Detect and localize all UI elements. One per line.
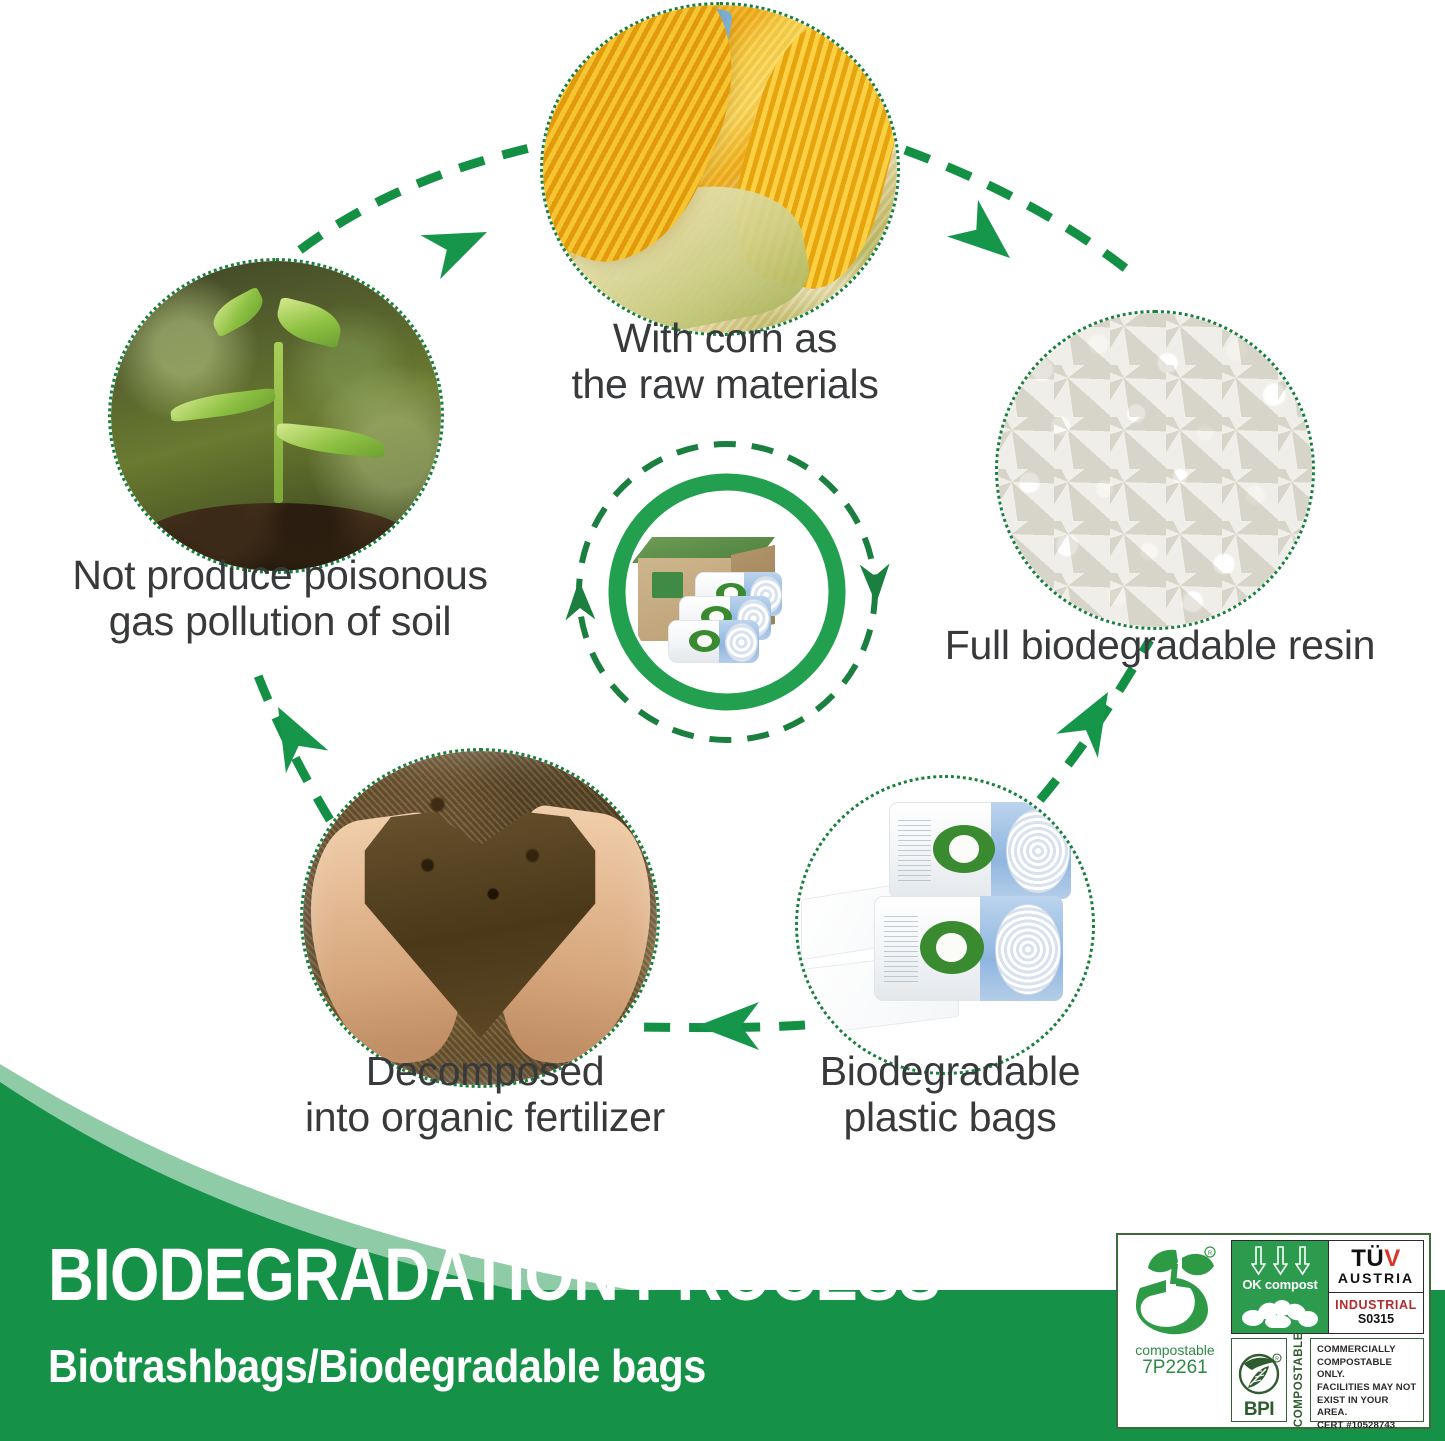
tuv-bottom: INDUSTRIAL S0315: [1329, 1292, 1423, 1333]
leaf-mid-left: [169, 388, 276, 422]
down-arrow-icon: [1295, 1246, 1310, 1276]
bpi-compostable-text: COMPOSTABLE: [1293, 1332, 1305, 1427]
resin-image: [995, 310, 1315, 630]
bpi-leaf-icon: R: [1236, 1352, 1282, 1400]
cert-right-column: OK compost TÜV AUSTRIA: [1231, 1240, 1424, 1422]
arrowhead-to-resin-top: [947, 200, 1025, 277]
corn-image: [540, 2, 900, 336]
arrowhead-to-soil: [697, 1002, 759, 1050]
plant-image: [108, 258, 444, 574]
seedling-label: compostable: [1135, 1342, 1214, 1358]
resin-caption: Full biodegradable resin: [900, 622, 1420, 668]
soil-image: [300, 748, 660, 1088]
compost-flower-icon: [1240, 1294, 1320, 1328]
ok-compost-label: OK compost: [1242, 1277, 1317, 1292]
bpi-disclaimer: COMMERCIALLY COMPOSTABLE ONLY. FACILITIE…: [1310, 1338, 1424, 1422]
bpi-row: R BPI COMPOSTABLE COMMERCIALLY COMPOSTAB…: [1231, 1338, 1424, 1422]
hands-holding-soil-art: [303, 751, 657, 1085]
bpi-compostable-vertical: COMPOSTABLE: [1290, 1338, 1307, 1422]
tuv-grade: INDUSTRIAL: [1335, 1299, 1417, 1313]
bpi-note-line: COMPOSTABLE ONLY.: [1317, 1357, 1418, 1382]
product-image: [628, 493, 826, 691]
corn-caption: With corn as the raw materials: [530, 315, 920, 408]
leaf-mid-right: [275, 423, 386, 459]
tuv-top: TÜV AUSTRIA: [1329, 1241, 1423, 1292]
banner-subtitle: Biotrashbags/Biodegradable bags: [48, 1343, 706, 1389]
seedling-logo-icon: R: [1132, 1244, 1218, 1340]
down-arrow-icon: [1251, 1246, 1266, 1276]
bpi-note-line: CERT #10528743: [1317, 1420, 1418, 1433]
plant-caption: Not produce poisonous gas pollution of s…: [20, 552, 540, 645]
resin-pellets-art: [998, 313, 1312, 627]
stem: [274, 342, 283, 503]
banner-title: BIODEGRADATION PROCESS: [48, 1238, 940, 1312]
product-box-art: [628, 493, 826, 691]
seedling-cert: R compostable 7P2261: [1123, 1240, 1227, 1422]
tuv-code: S0315: [1358, 1313, 1394, 1327]
arrowhead-to-corn: [421, 210, 497, 279]
bpi-note-line: EXIST IN YOUR AREA.: [1317, 1395, 1418, 1420]
carton-logo: [652, 572, 684, 598]
certification-block: R compostable 7P2261: [1116, 1233, 1431, 1429]
down-arrows-group: [1251, 1246, 1310, 1276]
tuv-austria-badge: TÜV AUSTRIA INDUSTRIAL S0315: [1328, 1241, 1423, 1333]
bpi-label: BPI: [1244, 1400, 1274, 1419]
svg-text:R: R: [1275, 1356, 1279, 1362]
svg-text:R: R: [1208, 1251, 1213, 1257]
down-arrow-icon: [1273, 1246, 1288, 1276]
tuv-logo: TÜV: [1351, 1248, 1401, 1271]
segment-corn-to-resin: [905, 150, 1140, 280]
infographic-canvas: With corn as the raw materials Full biod…: [0, 0, 1445, 1441]
tuv-logo-text: TÜV: [1351, 1245, 1401, 1272]
segment-plant-to-corn: [300, 140, 565, 250]
leaf-upper-left: [207, 287, 270, 338]
corn-cobs-art: [543, 5, 897, 333]
leaf-upper-right: [272, 297, 345, 349]
bpi-badge: R BPI: [1231, 1338, 1287, 1422]
segment-bags-to-soil: [640, 1025, 805, 1028]
ok-compost-tuv-row: OK compost TÜV AUSTRIA: [1231, 1240, 1424, 1334]
bags-image: [795, 775, 1095, 1075]
seedling-code: 7P2261: [1142, 1358, 1208, 1379]
tuv-country: AUSTRIA: [1338, 1271, 1414, 1285]
bpi-note-line: COMMERCIALLY: [1317, 1344, 1418, 1357]
bag-roll-top: [889, 802, 1071, 899]
bpi-note-line: FACILITIES MAY NOT: [1317, 1382, 1418, 1395]
seedling-sprout-art: [111, 261, 441, 571]
arrowhead-to-resin-bottom: [1056, 680, 1129, 758]
sky-patch: [643, 2, 733, 96]
front-roll-3: [668, 620, 759, 664]
bag-roll-bottom: [874, 896, 1062, 1002]
bag-rolls-art: [798, 778, 1092, 1072]
ok-compost-badge: OK compost: [1232, 1241, 1328, 1333]
